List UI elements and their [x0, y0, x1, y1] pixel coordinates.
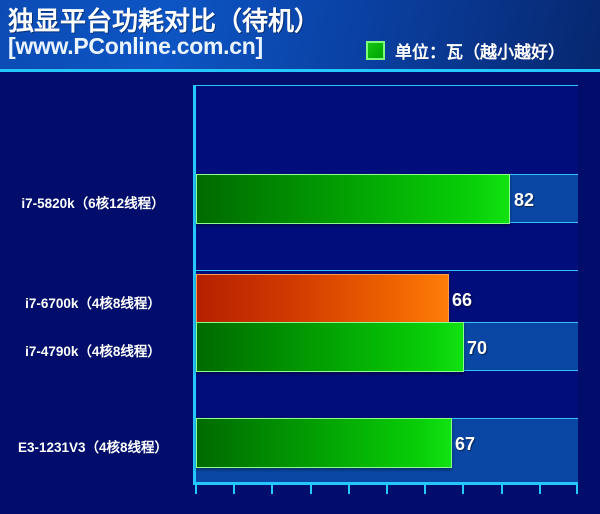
background-band [196, 370, 578, 418]
bar-value-label-2: 70 [467, 338, 487, 359]
site-url-label: [www.PConline.com.cn] [8, 33, 263, 60]
legend-swatch-icon [366, 41, 385, 60]
category-label-3: E3-1231V3（4核8线程） [0, 436, 186, 456]
x-axis-tick [462, 485, 464, 494]
category-label-0: i7-5820k（6核12线程） [0, 192, 186, 212]
bar-series-0 [196, 174, 510, 224]
gridline [196, 85, 578, 86]
category-label-1: i7-6700k（4核8线程） [0, 292, 186, 312]
bar-value-label-1: 66 [452, 290, 472, 311]
x-axis-tick [539, 485, 541, 494]
background-band [196, 85, 578, 122]
x-axis-tick [424, 485, 426, 494]
gridline [196, 270, 578, 271]
x-axis-tick [348, 485, 350, 494]
x-axis-tick [271, 485, 273, 494]
x-axis-tick [576, 485, 578, 494]
x-axis-tick [501, 485, 503, 494]
legend-label: 单位：瓦（越小越好） [395, 38, 565, 63]
x-axis-tick [386, 485, 388, 494]
background-band [196, 222, 578, 270]
chart-header: 独显平台功耗对比（待机） [www.PConline.com.cn] 单位：瓦（… [0, 0, 600, 72]
x-axis-tick [310, 485, 312, 494]
bar-series-1 [196, 274, 449, 324]
bar-value-label-3: 67 [455, 434, 475, 455]
bar-series-3 [196, 418, 452, 468]
x-axis-tick [195, 485, 197, 494]
chart-body: 82 i7-5820k（6核12线程） 66 i7-6700k（4核8线程） 7… [0, 72, 600, 514]
chart-screenshot: 独显平台功耗对比（待机） [www.PConline.com.cn] 单位：瓦（… [0, 0, 600, 514]
bar-series-2 [196, 322, 464, 372]
x-axis-tick [233, 485, 235, 494]
background-band [196, 122, 578, 174]
bar-value-label-0: 82 [514, 190, 534, 211]
chart-legend: 单位：瓦（越小越好） [366, 38, 565, 63]
category-label-2: i7-4790k（4核8线程） [0, 340, 186, 360]
